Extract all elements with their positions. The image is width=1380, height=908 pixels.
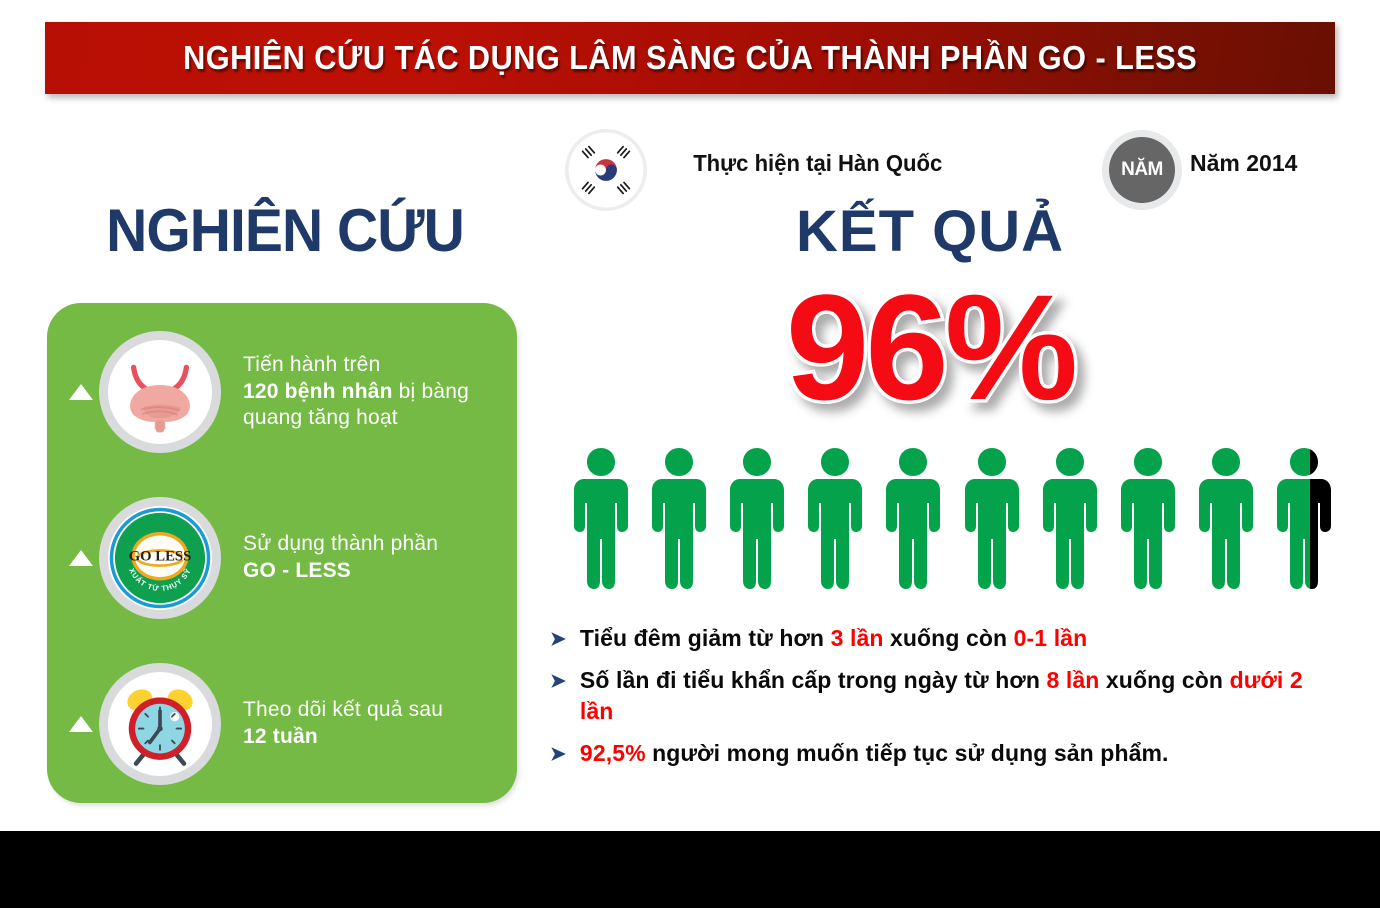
bullet-item: ➤Tiểu đêm giảm từ hơn 3 lần xuống còn 0-… [550, 623, 1340, 653]
bullet-plain: người mong muốn tiếp tục sử dụng sản phẩ… [646, 740, 1169, 766]
bullet-plain: Số lần đi tiểu khẩn cấp trong ngày từ hơ… [580, 667, 1047, 693]
item-line-1: Sử dụng thành phần [243, 532, 438, 555]
alarm-clock-icon [114, 678, 206, 770]
bullet-plain: Tiểu đêm giảm từ hơn [580, 625, 831, 651]
bullet-text: 92,5% người mong muốn tiếp tục sử dụng s… [580, 738, 1169, 768]
page-title: NGHIÊN CỨU TÁC DỤNG LÂM SÀNG CỦA THÀNH P… [183, 39, 1197, 77]
person-icon [961, 445, 1023, 591]
study-item-text: Theo dõi kết quả sau 12 tuần [243, 697, 443, 751]
person-icon [726, 445, 788, 591]
item-line-1: Tiến hành trên [243, 353, 380, 376]
item-line-3: quang tăng hoạt [243, 406, 398, 429]
bullet-highlight: 8 lần [1047, 667, 1100, 693]
bullet-plain: xuống còn [1099, 667, 1229, 693]
bladder-icon [116, 348, 204, 436]
header-banner: NGHIÊN CỨU TÁC DỤNG LÂM SÀNG CỦA THÀNH P… [45, 22, 1335, 94]
bullet-plain: xuống còn [884, 625, 1014, 651]
item-line-1: Theo dõi kết quả sau [243, 698, 443, 721]
study-location-label: Thực hiện tại Hàn Quốc [693, 150, 942, 177]
person-icon [1039, 445, 1101, 591]
bullet-item: ➤92,5% người mong muốn tiếp tục sử dụng … [550, 738, 1340, 768]
study-details-card: Tiến hành trên 120 bệnh nhân bị bàng qua… [47, 303, 517, 803]
svg-text:GO LESS: GO LESS [129, 549, 192, 565]
icon-badge: GO LESS XUẤT TỪ THỤY SỸ [99, 497, 221, 619]
person-icon [570, 445, 632, 591]
result-heading: KẾT QUẢ [620, 198, 1240, 265]
item-bold-1: 120 bệnh nhân [243, 380, 393, 403]
study-item-ingredient: GO LESS XUẤT TỪ THỤY SỸ Sử dụng thành ph… [47, 475, 517, 641]
study-item-text: Sử dụng thành phần GO - LESS [243, 531, 438, 585]
bottom-black-bar [0, 831, 1380, 908]
study-item-text: Tiến hành trên 120 bệnh nhân bị bàng qua… [243, 352, 469, 433]
person-icon [1117, 445, 1179, 591]
icon-badge [99, 331, 221, 453]
results-bullet-list: ➤Tiểu đêm giảm từ hơn 3 lần xuống còn 0-… [550, 623, 1340, 780]
person-icon [1195, 445, 1257, 591]
people-pictogram [570, 443, 1335, 591]
item-bold-1: 12 tuần [243, 725, 318, 748]
study-item-patients: Tiến hành trên 120 bệnh nhân bị bàng qua… [47, 309, 517, 475]
bullet-highlight: 0-1 lần [1014, 625, 1088, 651]
item-after-1: bị bàng [393, 380, 469, 403]
bullet-highlight: 3 lần [831, 625, 884, 651]
bullet-text: Số lần đi tiểu khẩn cấp trong ngày từ hơ… [580, 665, 1340, 726]
year-badge-label: NĂM [1109, 137, 1175, 203]
result-percentage: 96% [620, 272, 1240, 422]
bullet-text: Tiểu đêm giảm từ hơn 3 lần xuống còn 0-1… [580, 623, 1087, 653]
triangle-marker-icon [69, 716, 93, 732]
triangle-marker-icon [69, 384, 93, 400]
person-icon [804, 445, 866, 591]
bullet-highlight: 92,5% [580, 740, 646, 766]
go-less-badge-icon: GO LESS XUẤT TỪ THỤY SỸ [108, 506, 212, 610]
triangle-marker-icon [69, 550, 93, 566]
item-bold-1: GO - LESS [243, 559, 351, 582]
study-item-duration: Theo dõi kết quả sau 12 tuần [47, 641, 517, 807]
person-icon [1273, 445, 1335, 591]
study-year-label: Năm 2014 [1190, 150, 1297, 177]
left-section-title: NGHIÊN CỨU [71, 196, 499, 265]
bullet-item: ➤Số lần đi tiểu khẩn cấp trong ngày từ h… [550, 665, 1340, 726]
person-icon [648, 445, 710, 591]
bullet-arrow-icon: ➤ [550, 745, 566, 764]
infographic-page: NGHIÊN CỨU TÁC DỤNG LÂM SÀNG CỦA THÀNH P… [0, 0, 1380, 908]
bullet-arrow-icon: ➤ [550, 672, 566, 691]
person-icon [882, 445, 944, 591]
icon-badge [99, 663, 221, 785]
bullet-arrow-icon: ➤ [550, 630, 566, 649]
